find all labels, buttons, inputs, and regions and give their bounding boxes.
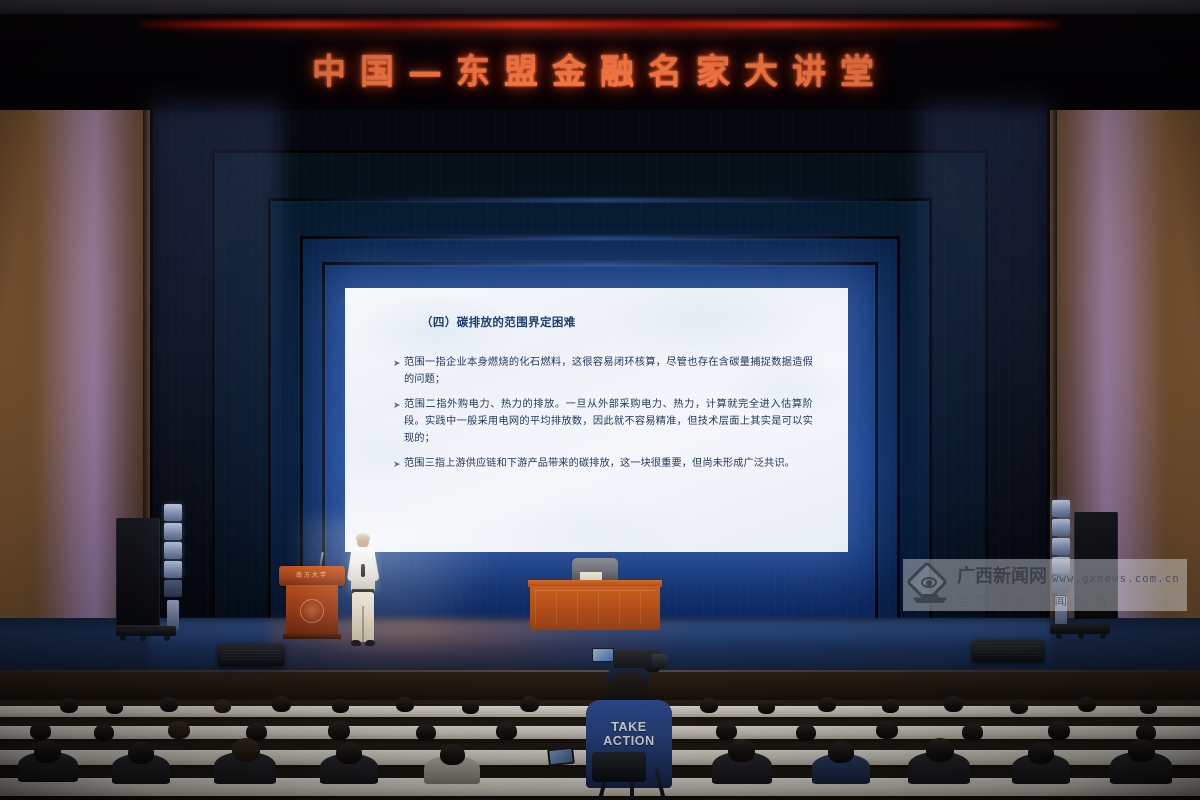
presenter-shoe-left bbox=[351, 640, 361, 646]
speakers-table bbox=[528, 580, 662, 632]
list-item: ➤ 范围一指企业本身燃烧的化石燃料，这很容易闭环核算，尽管也存在含碳量捕捉数据造… bbox=[393, 354, 813, 388]
cart-wheel bbox=[140, 635, 146, 641]
gxnews-logo-icon bbox=[909, 564, 951, 606]
audience-head bbox=[232, 738, 260, 762]
presenter-leg-split bbox=[362, 606, 364, 642]
cart-wheel bbox=[1100, 633, 1106, 639]
audience-head bbox=[462, 700, 479, 714]
list-item: ➤ 范围三指上游供应链和下游产品带来的碳排放，这一块很重要，但尚未形成广泛共识。 bbox=[393, 455, 813, 472]
table-panel-lines bbox=[535, 590, 655, 625]
line-array-module bbox=[1052, 538, 1070, 555]
presenter-head bbox=[357, 534, 369, 548]
audience-head bbox=[94, 724, 114, 741]
bullet-arrow-icon: ➤ bbox=[393, 455, 404, 472]
audience-head bbox=[700, 698, 718, 713]
lectern-base bbox=[283, 634, 341, 639]
audience-head bbox=[716, 722, 737, 740]
list-item: ➤ 范围二指外购电力、热力的排放。一旦从外部采购电力、热力，计算就完全进入估算阶… bbox=[393, 396, 813, 447]
audience-head bbox=[926, 738, 954, 762]
audience-head bbox=[106, 700, 123, 714]
bullet-text: 范围二指外购电力、热力的排放。一旦从外部采购电力、热力，计算就完全进入估算阶段。… bbox=[404, 396, 813, 447]
audience-head bbox=[1048, 721, 1070, 740]
audience-head bbox=[416, 724, 436, 741]
presentation-screen: （四）碳排放的范围界定困难 ➤ 范围一指企业本身燃烧的化石燃料，这很容易闭环核算… bbox=[345, 288, 848, 552]
audience-head bbox=[214, 699, 231, 713]
audience-head bbox=[818, 697, 836, 712]
tripod-leg bbox=[654, 768, 666, 800]
second-camera-body bbox=[592, 752, 646, 782]
audience-head bbox=[440, 744, 465, 765]
news-watermark: 广西新闻网 www.gxnews.com.cn 全国重点新闻网站 bbox=[903, 559, 1187, 611]
table-front-panel bbox=[530, 586, 660, 630]
watermark-url: www.gxnews.com.cn bbox=[1052, 573, 1180, 585]
line-array-left bbox=[164, 504, 182, 599]
lectern-name-plate: 南方大学 bbox=[290, 572, 334, 580]
logo-pupil-shape bbox=[926, 580, 932, 586]
arch-highlight-4 bbox=[300, 236, 900, 240]
audience-head bbox=[1078, 697, 1096, 712]
bullet-text: 范围三指上游供应链和下游产品带来的碳排放，这一块很重要，但尚未形成广泛共识。 bbox=[404, 455, 813, 472]
bullet-arrow-icon: ➤ bbox=[393, 396, 404, 413]
audience-head bbox=[34, 740, 61, 763]
logo-base-shape bbox=[913, 594, 947, 603]
university-seal-icon bbox=[300, 599, 324, 623]
camera-lens-icon bbox=[652, 654, 668, 668]
audience-head bbox=[128, 742, 154, 764]
line-array-module bbox=[164, 504, 182, 521]
slide-title: （四）碳排放的范围界定困难 bbox=[421, 314, 576, 330]
monitor-grille bbox=[975, 644, 1041, 656]
handheld-microphone-icon bbox=[361, 564, 365, 577]
audience-head bbox=[160, 697, 178, 712]
audience-head bbox=[332, 699, 349, 713]
audience-head bbox=[336, 742, 362, 764]
watermark-primary-line: 广西新闻网 www.gxnews.com.cn bbox=[957, 562, 1181, 588]
cart-wheel bbox=[164, 635, 170, 641]
led-strip-icon bbox=[140, 21, 1060, 28]
audience-head bbox=[496, 722, 517, 740]
arch-highlight-5 bbox=[322, 262, 878, 266]
audience-head bbox=[272, 696, 291, 712]
pa-stack-left bbox=[116, 504, 226, 644]
event-title: 中国—东盟金融名家大讲堂 bbox=[0, 44, 1200, 93]
presenter-shoe-right bbox=[365, 640, 375, 646]
lectern: 南方大学 bbox=[279, 566, 345, 638]
audience-head bbox=[1140, 700, 1157, 714]
audience-head bbox=[1010, 699, 1028, 714]
line-array-module bbox=[164, 561, 182, 578]
audience-head bbox=[876, 721, 898, 739]
cart-wheel bbox=[1078, 633, 1084, 639]
audience-head bbox=[828, 741, 854, 763]
lectern-body bbox=[286, 585, 338, 638]
audience-head bbox=[796, 724, 816, 741]
presenter bbox=[348, 534, 378, 650]
line-array-module bbox=[1052, 500, 1070, 517]
cart-wheel bbox=[120, 635, 126, 641]
audience-head bbox=[60, 698, 78, 713]
audience-head bbox=[944, 696, 963, 712]
stage-monitor-right bbox=[972, 640, 1044, 662]
audience-head bbox=[882, 699, 899, 713]
watermark-tagline: 全国重点新闻网站 bbox=[957, 590, 1181, 609]
second-camera-screen bbox=[547, 747, 575, 767]
audience-head bbox=[520, 696, 539, 712]
line-array-module bbox=[1052, 519, 1070, 536]
line-array-module bbox=[164, 523, 182, 540]
audience-head bbox=[1128, 739, 1155, 762]
shirt-slogan: TAKE ACTION bbox=[586, 720, 672, 748]
audience-head bbox=[30, 722, 51, 740]
cameraman: TAKE ACTION bbox=[566, 648, 684, 800]
lectern-top: 南方大学 bbox=[279, 566, 345, 586]
auditorium-photo: 中国—东盟金融名家大讲堂 （四）碳排放的范围界定困难 ➤ 范围一指企业本身燃烧的… bbox=[0, 0, 1200, 800]
bullet-text: 范围一指企业本身燃烧的化石燃料，这很容易闭环核算，尽管也存在含碳量捕捉数据造假的… bbox=[404, 354, 813, 388]
audience-head bbox=[728, 739, 755, 762]
arch-highlight-3 bbox=[268, 198, 932, 202]
bullet-arrow-icon: ➤ bbox=[393, 354, 404, 371]
line-array-module bbox=[164, 542, 182, 559]
watermark-text-block: 广西新闻网 www.gxnews.com.cn 全国重点新闻网站 bbox=[957, 562, 1181, 609]
cart-wheel bbox=[1056, 633, 1062, 639]
stage-monitor-left bbox=[218, 644, 284, 666]
line-array-module bbox=[164, 580, 182, 597]
audience-head bbox=[168, 721, 190, 739]
monitor-grille bbox=[221, 648, 281, 660]
audience-head bbox=[1028, 742, 1054, 764]
watermark-brand: 广西新闻网 bbox=[957, 562, 1047, 588]
subwoofer-left bbox=[116, 518, 160, 626]
audience-head bbox=[396, 697, 414, 712]
camera-monitor-screen bbox=[592, 648, 614, 662]
audience-head bbox=[758, 700, 775, 714]
event-banner: 中国—东盟金融名家大讲堂 bbox=[0, 14, 1200, 110]
audience-head bbox=[962, 723, 983, 741]
audience-head bbox=[328, 721, 350, 740]
slide-bullet-list: ➤ 范围一指企业本身燃烧的化石燃料，这很容易闭环核算，尽管也存在含碳量捕捉数据造… bbox=[393, 354, 813, 480]
